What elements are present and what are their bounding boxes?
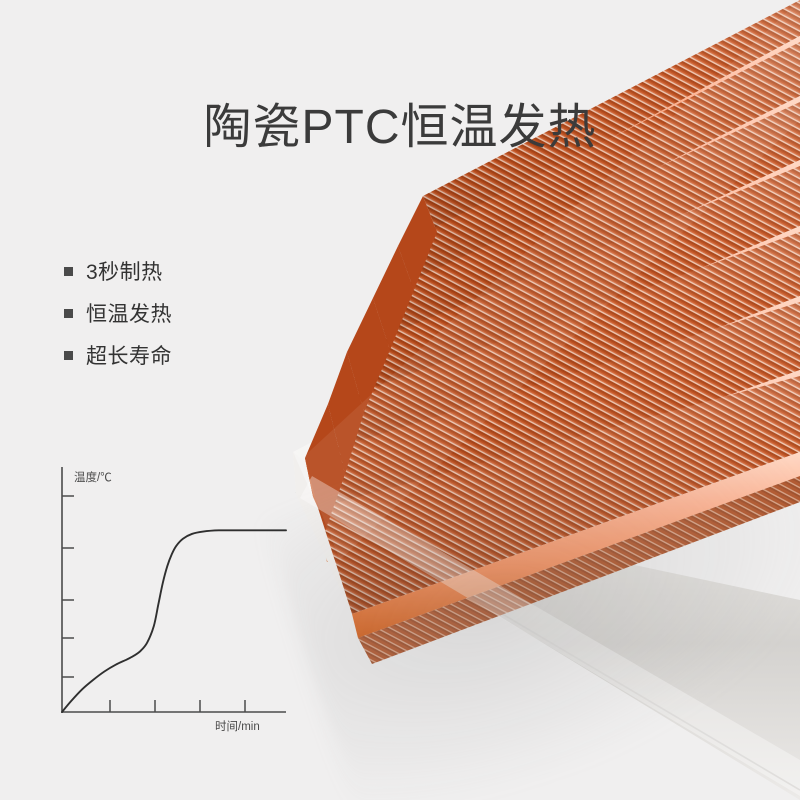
feature-label: 3秒制热 — [86, 256, 163, 286]
feature-item-3: 超长寿命 — [64, 334, 294, 376]
bullet-square-icon — [64, 309, 73, 318]
base-plate-highlight — [300, 476, 800, 796]
fin-row-endcaps — [305, 196, 437, 540]
fin-row-2 — [305, 302, 800, 562]
fin-row-6 — [398, 42, 800, 308]
feature-list: 3秒制热 恒温发热 超长寿命 — [64, 250, 294, 376]
fin-row-1 — [318, 376, 800, 664]
product-drop-shadow — [262, 355, 800, 800]
temperature-time-chart: 温度/℃ 时间/min — [40, 455, 310, 745]
base-plate-top — [293, 186, 800, 497]
bullet-square-icon — [64, 267, 73, 276]
base-plate-seam — [296, 492, 800, 790]
product-feature-banner: 陶瓷PTC恒温发热 3秒制热 恒温发热 超长寿命 — [0, 0, 800, 800]
fin-row-4 — [347, 166, 800, 432]
feature-item-1: 3秒制热 — [64, 250, 294, 292]
feature-item-2: 恒温发热 — [64, 292, 294, 334]
fin-row-3 — [328, 232, 800, 495]
chart-y-axis-label: 温度/℃ — [74, 470, 112, 484]
feature-label: 恒温发热 — [86, 298, 172, 328]
page-title: 陶瓷PTC恒温发热 — [0, 98, 800, 158]
base-plate-corner — [293, 452, 420, 578]
fin-field-sheen — [300, 0, 800, 560]
chart-y-ticks — [62, 496, 74, 677]
base-plate-front — [293, 452, 800, 800]
chart-x-axis-label: 时间/min — [215, 720, 260, 733]
chart-x-ticks — [110, 700, 245, 712]
bullet-square-icon — [64, 351, 73, 360]
chart-curve-line — [62, 530, 286, 712]
feature-label: 超长寿命 — [86, 340, 172, 370]
chart-svg: 温度/℃ 时间/min — [40, 455, 310, 745]
